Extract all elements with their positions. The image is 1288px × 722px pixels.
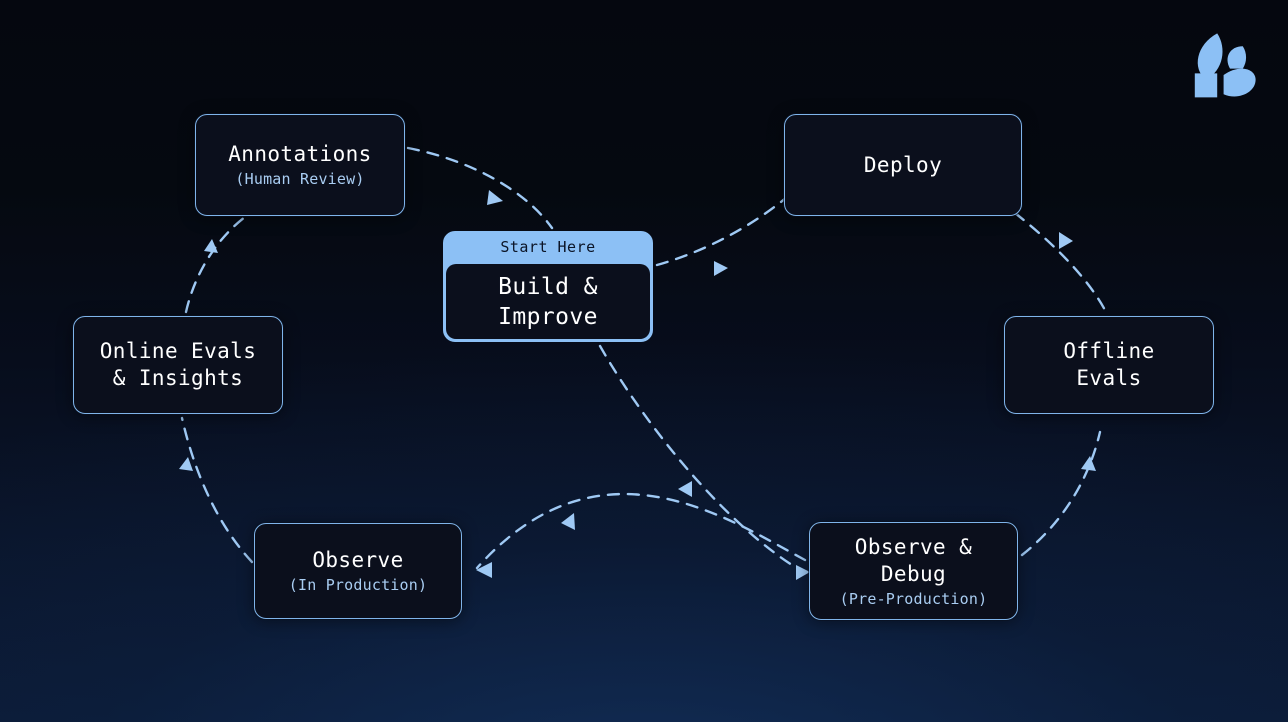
edge-observe-debug-to-offline (1022, 432, 1100, 555)
edge-observe-to-online-evals (182, 418, 252, 562)
arrowhead-to-deploy (714, 261, 728, 276)
node-observe-subtitle: (In Production) (289, 575, 427, 595)
edge-observe-debug-to-observe (477, 494, 805, 568)
node-observe-title: Observe (312, 547, 403, 574)
arrowhead-to-annotations (204, 239, 218, 253)
node-build-improve[interactable]: Start Here Build & Improve (443, 231, 653, 342)
arrowhead-to-observe (476, 562, 492, 578)
node-offline-evals-title: Offline Evals (1063, 338, 1154, 392)
edge-annotations-to-build (408, 148, 552, 228)
arrowhead-to-observe-debug (796, 565, 810, 580)
node-build-improve-body: Build & Improve (446, 264, 650, 339)
edge-deploy-to-offline (1015, 213, 1106, 312)
node-observe-debug[interactable]: Observe & Debug (Pre-Production) (809, 522, 1018, 620)
arrowhead-cross-right (561, 513, 575, 530)
arrowhead-cross-left (678, 481, 692, 497)
node-offline-evals[interactable]: Offline Evals (1004, 316, 1214, 414)
node-build-improve-title: Build & Improve (498, 272, 598, 332)
node-online-evals[interactable]: Online Evals & Insights (73, 316, 283, 414)
diagram-canvas: Annotations (Human Review) Online Evals … (0, 0, 1288, 722)
arrowhead-to-online-evals (179, 457, 193, 471)
node-deploy[interactable]: Deploy (784, 114, 1022, 216)
arrowhead-to-offline-top (1059, 232, 1073, 249)
node-online-evals-title: Online Evals & Insights (100, 338, 257, 392)
node-observe-debug-title: Observe & Debug (855, 534, 972, 588)
node-annotations-title: Annotations (228, 141, 371, 168)
node-deploy-title: Deploy (864, 152, 942, 179)
arrowhead-to-build (487, 190, 503, 205)
edge-build-to-deploy (657, 186, 800, 265)
edge-build-to-observe-debug (600, 346, 805, 573)
node-annotations[interactable]: Annotations (Human Review) (195, 114, 405, 216)
edge-online-evals-to-annotations (186, 212, 252, 312)
node-observe-debug-subtitle: (Pre-Production) (840, 589, 988, 609)
node-annotations-subtitle: (Human Review) (235, 169, 364, 189)
arrowhead-to-offline-bottom (1081, 456, 1096, 471)
node-observe[interactable]: Observe (In Production) (254, 523, 462, 619)
start-here-banner: Start Here (444, 232, 652, 264)
braintrust-leaf-logo-icon (1182, 26, 1262, 108)
